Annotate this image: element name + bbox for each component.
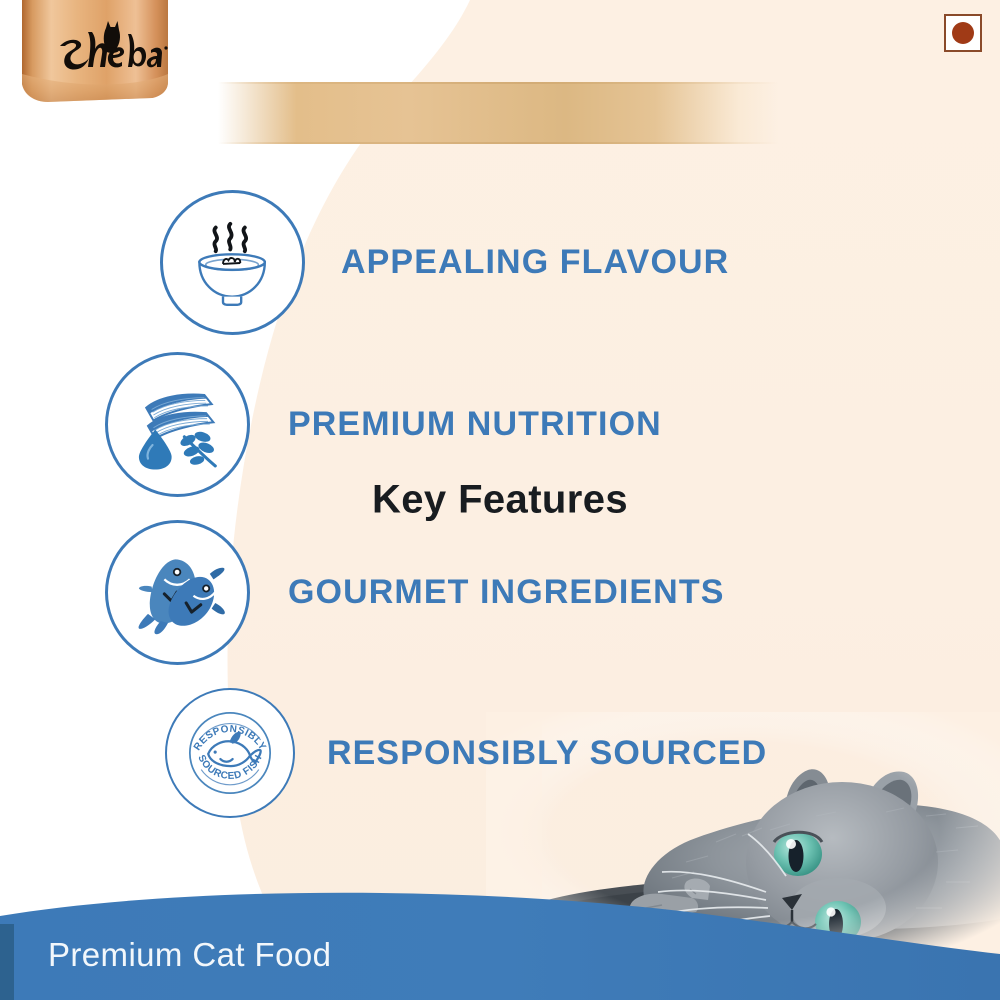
sheba-product-pouch <box>20 0 170 106</box>
feature-label: PREMIUM NUTRITION <box>288 405 662 444</box>
feature-item-gourmet-ingredients[interactable]: GOURMET INGREDIENTS <box>105 520 724 665</box>
badge-text-bottom: SOURCED FISH <box>195 753 264 782</box>
feature-item-responsibly-sourced[interactable]: RESPONSIBLY SOURCED FISH RESPONSIBLY SOU… <box>165 688 767 818</box>
footer-tagline: Premium Cat Food <box>48 936 331 974</box>
feature-label: APPEALING FLAVOUR <box>341 243 729 282</box>
non-vegetarian-mark <box>944 14 982 52</box>
feature-label: RESPONSIBLY SOURCED <box>327 734 767 773</box>
grain-sprig-icon <box>178 429 215 465</box>
steaming-bowl-icon <box>160 190 305 335</box>
non-veg-dot-icon <box>952 22 974 44</box>
features-list: APPEALING FLAVOUR <box>0 0 1000 1000</box>
feature-item-premium-nutrition[interactable]: PREMIUM NUTRITION <box>105 352 662 497</box>
steam-lines-icon <box>214 223 246 250</box>
responsibly-sourced-fish-badge: RESPONSIBLY SOURCED FISH <box>165 688 295 818</box>
water-droplet-icon <box>138 429 171 469</box>
two-fish-icon <box>105 520 250 665</box>
food-pieces-icon <box>223 258 240 264</box>
badge-text-top: RESPONSIBLY <box>192 724 268 753</box>
feature-label: GOURMET INGREDIENTS <box>288 573 724 612</box>
fish-fillets-nutrition-icon <box>105 352 250 497</box>
product-infographic: Key Features <box>0 0 1000 1000</box>
feature-item-appealing-flavour[interactable]: APPEALING FLAVOUR <box>160 190 729 335</box>
